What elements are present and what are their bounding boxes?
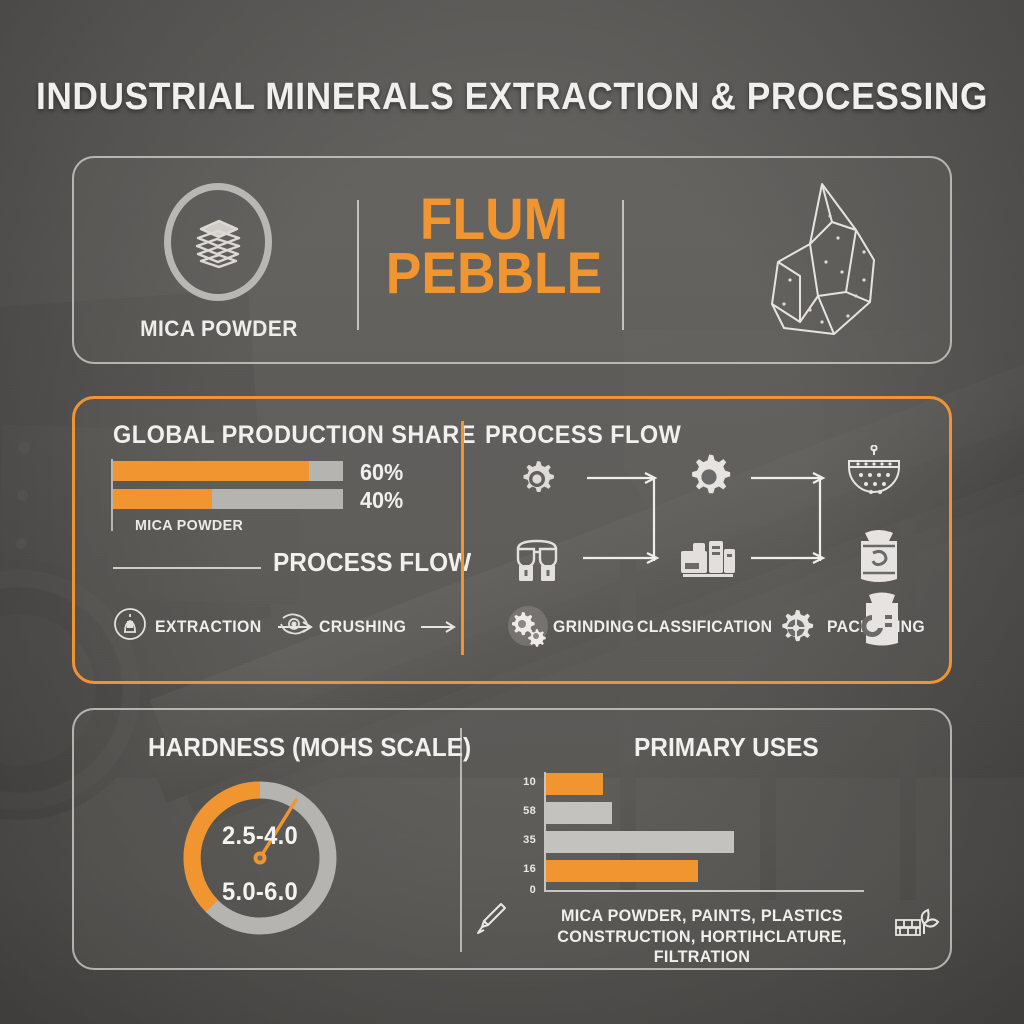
process-flow-title-right: PROCESS FLOW — [485, 421, 681, 450]
sieve-basket-icon — [843, 445, 905, 508]
mica-flakes-stack-icon — [164, 183, 272, 301]
uses-caption-line-1: MICA POWDER, PAINTS, PLASTICS — [514, 906, 890, 927]
header-divider-right — [622, 200, 624, 330]
production-bar-row-2 — [113, 489, 343, 509]
uses-tick-2: 35 — [510, 834, 536, 846]
primary-uses-chart: 10 58 35 16 0 — [506, 772, 926, 902]
bar-category-label: MICA POWDER — [135, 517, 243, 534]
process-label-grinding: GRINDING — [553, 617, 634, 637]
mine-cart-bell-icon — [113, 607, 147, 646]
paintbrush-icon — [474, 900, 508, 941]
uses-bar-3 — [546, 831, 734, 853]
header-card: MICA POWDER FLUM PEBBLE — [72, 156, 952, 364]
process-connector-right — [817, 477, 823, 561]
bar-fill — [113, 489, 212, 509]
uses-caption: MICA POWDER, PAINTS, PLASTICS CONSTRUCTI… — [514, 906, 890, 968]
uses-tick-4: 0 — [510, 884, 536, 896]
flow-step-label: EXTRACTION — [155, 617, 261, 637]
process-card-divider — [461, 421, 464, 655]
flow-step-crushing: CRUSHING — [277, 607, 461, 646]
mica-powder-label: MICA POWDER — [138, 316, 300, 342]
process-connector-left — [651, 477, 657, 561]
bottom-card-divider — [460, 728, 462, 952]
uses-tick-0: 10 — [510, 776, 536, 788]
uses-tick-1: 58 — [510, 805, 536, 817]
safety-goggles-icon — [513, 535, 561, 590]
classification-gear-icon — [775, 607, 817, 654]
hardness-title: HARDNESS (MOHS SCALE) — [148, 732, 471, 763]
header-divider-left — [357, 200, 359, 330]
mineral-crystal-cluster-icon — [714, 176, 914, 346]
grinding-gears-icon — [507, 605, 549, 652]
global-production-share-title: GLOBAL PRODUCTION SHARE — [113, 421, 476, 450]
hardness-gauge — [174, 772, 346, 944]
gear-small-icon — [515, 457, 559, 506]
brand-line-2: PEBBLE — [384, 247, 605, 301]
flour-sack-icon — [853, 525, 905, 592]
process-arrow-3 — [583, 551, 665, 565]
brand-name: FLUM PEBBLE — [384, 193, 605, 301]
process-card: GLOBAL PRODUCTION SHARE 60% 40% MICA POW… — [72, 396, 952, 684]
uses-tick-3: 16 — [510, 863, 536, 875]
process-arrow-4 — [751, 551, 831, 565]
bar-fill — [113, 461, 309, 481]
uses-caption-line-2: CONSTRUCTION, HORTIHCLATURE, FILTRATION — [514, 927, 890, 968]
production-bar-value-1: 60% — [360, 459, 403, 486]
process-label-classification: CLASSIFICATION — [637, 617, 772, 637]
process-flow-rule — [113, 567, 261, 569]
processing-machine-icon — [677, 533, 739, 590]
gauge-label-top: 2.5-4.0 — [178, 822, 341, 851]
uses-chart-x-axis — [544, 890, 864, 892]
uses-bar-1 — [546, 773, 603, 795]
packaging-sack-icon — [857, 589, 907, 656]
uses-bar-4 — [546, 860, 698, 882]
uses-bar-2 — [546, 802, 612, 824]
bottom-card: HARDNESS (MOHS SCALE) 2.5-4.0 5.0-6.0 PR… — [72, 708, 952, 970]
crusher-rotor-icon — [277, 607, 311, 646]
bricks-plant-icon — [894, 898, 940, 943]
production-bar-row-1 — [113, 461, 343, 481]
flow-arrow-icon — [421, 621, 461, 633]
process-flow-title-left: PROCESS FLOW — [273, 547, 471, 578]
production-bar-value-2: 40% — [360, 487, 403, 514]
gauge-label-bottom: 5.0-6.0 — [178, 878, 341, 907]
gear-large-icon — [683, 451, 735, 508]
flow-step-label: CRUSHING — [319, 617, 406, 637]
primary-uses-title: PRIMARY USES — [634, 732, 819, 763]
page-title: INDUSTRIAL MINERALS EXTRACTION & PROCESS… — [36, 76, 988, 119]
